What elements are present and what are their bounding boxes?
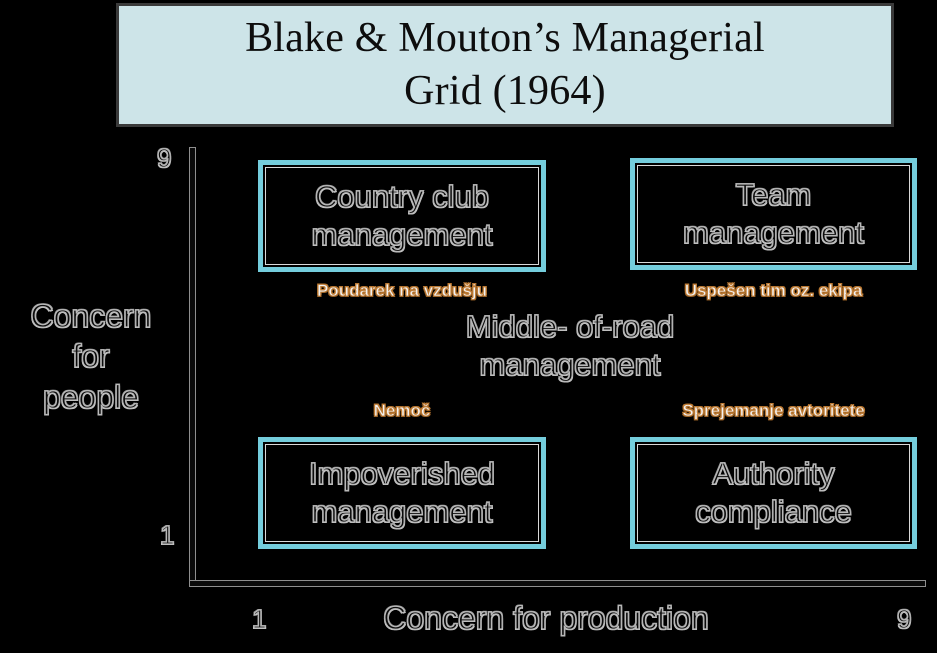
quadrant-label-authority: Authority compliance (695, 455, 852, 531)
quadrant-box-team[interactable]: Team management (630, 158, 917, 270)
y-axis-title: Concern for people (6, 296, 176, 417)
quadrant-caption-impoverished: Nemoč (258, 402, 546, 419)
center-label-middle-of-road: Middle- of-road management (398, 308, 742, 384)
managerial-grid-slide: Blake & Mouton’s Managerial Grid (1964) … (0, 0, 937, 653)
quadrant-label-country-club: Country club management (312, 178, 493, 254)
x-axis-tick-right: 9 (897, 606, 911, 632)
page-title: Blake & Mouton’s Managerial Grid (1964) (231, 12, 779, 118)
y-axis-line (190, 148, 195, 586)
y-axis-tick-bottom: 1 (160, 522, 174, 548)
quadrant-label-team: Team management (683, 176, 864, 252)
quadrant-caption-team: Uspešen tim oz. ekipa (630, 282, 917, 299)
quadrant-box-country-club[interactable]: Country club management (258, 160, 546, 272)
slide-title-banner: Blake & Mouton’s Managerial Grid (1964) (116, 3, 894, 127)
quadrant-label-impoverished: Impoverished management (309, 455, 495, 531)
x-axis-title: Concern for production (340, 602, 752, 634)
x-axis-line (190, 581, 925, 586)
quadrant-caption-country-club: Poudarek na vzdušju (258, 282, 546, 299)
quadrant-box-impoverished[interactable]: Impoverished management (258, 437, 546, 549)
quadrant-caption-authority: Sprejemanje avtoritete (630, 402, 917, 419)
quadrant-box-authority[interactable]: Authority compliance (630, 437, 917, 549)
x-axis-tick-left: 1 (252, 606, 266, 632)
y-axis-tick-top: 9 (157, 145, 171, 171)
